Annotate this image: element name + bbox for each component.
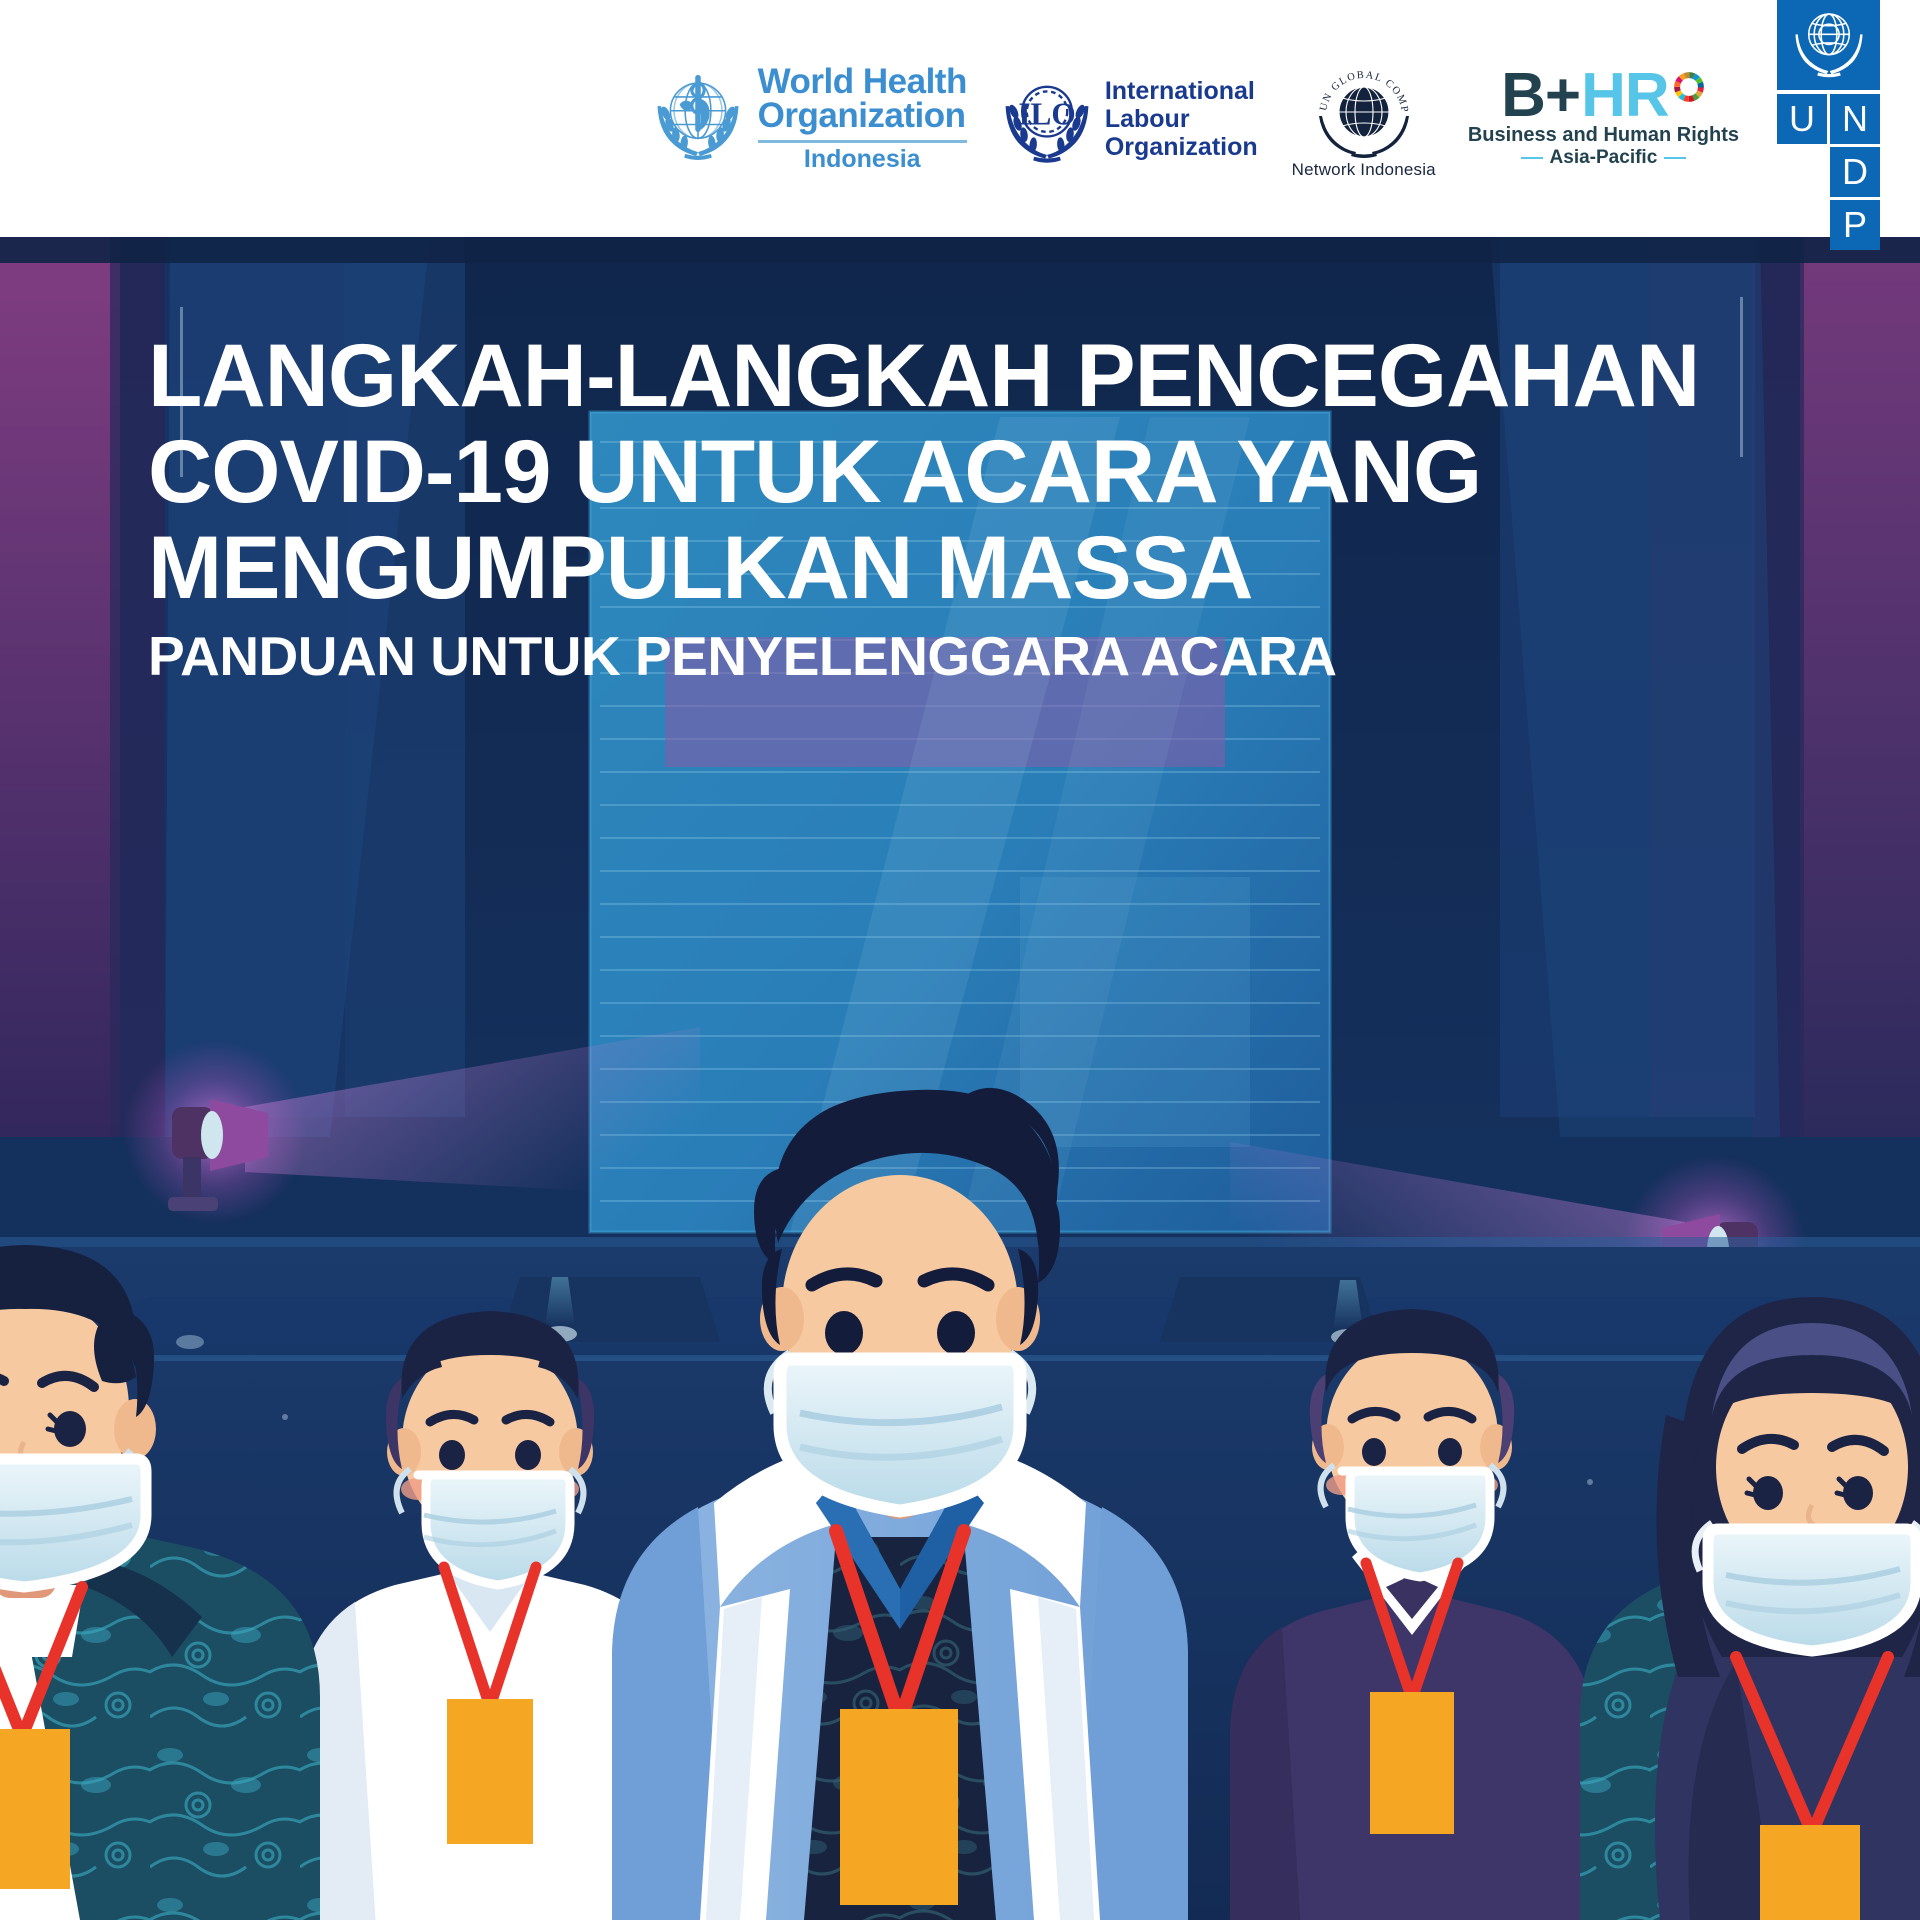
bhr-plus-sign: + [1545,68,1581,124]
undp-cell-blank-2 [1777,200,1827,250]
undp-letter-grid: U N D [1777,94,1880,197]
undp-letter-p: P [1830,200,1880,250]
poster-root: World Health Organization Indonesia ILO [0,0,1920,1920]
bhr-dash-left [1521,157,1543,159]
title-line-1: LANGKAH-LANGKAH PENCEGAHAN [148,327,1848,423]
ilo-logo: ILO International Labour [1001,69,1258,169]
svg-text:ILO: ILO [1018,96,1075,131]
person-man-blue-blazer-center [612,1088,1188,1920]
undp-cell-blank [1777,147,1827,197]
b-plus-hr-logo: B + HR [1468,68,1739,169]
poster-subtitle: PANDUAN UNTUK PENYELENGGARA ACARA [148,615,1848,698]
bhr-region: Asia-Pacific [1550,147,1658,169]
poster-title-block: LANGKAH-LANGKAH PENCEGAHAN COVID-19 UNTU… [148,327,1848,698]
person-man-purple-vest [1230,1309,1594,1920]
undp-logo: U N D P [1777,0,1880,250]
ilo-line2: Labour [1105,105,1258,133]
undp-letter-grid-bottom: P [1777,200,1880,250]
who-divider [758,140,967,143]
hero-illustration-area: LANGKAH-LANGKAH PENCEGAHAN COVID-19 UNTU… [0,237,1920,1920]
who-emblem-icon [652,67,744,171]
partner-logo-bar: World Health Organization Indonesia ILO [0,0,1920,237]
person-woman-hijab-right [1580,1297,1920,1920]
who-logo: World Health Organization Indonesia [652,65,967,173]
un-global-compact-logo: UN GLOBAL COMPACT Network Indonesi [1292,58,1436,180]
title-line-2: COVID-19 UNTUK ACARA YANG [148,423,1848,519]
who-line1: World Health [758,65,967,99]
bhr-letters-hr: HR [1581,68,1669,124]
bhr-letter-b: B [1501,68,1545,124]
sdg-wheel-icon [1672,70,1706,104]
undp-letter-d: D [1830,147,1880,197]
bhr-dash-right [1664,157,1686,159]
title-line-3: MENGUMPULKAN MASSA [148,519,1848,615]
un-emblem-icon [1790,0,1868,78]
person-woman-batik-left [0,1245,320,1920]
who-line2: Organization [758,99,967,133]
ilo-emblem-icon: ILO [1001,69,1093,169]
ilo-line3: Organization [1105,133,1258,161]
ilo-wordmark: International Labour Organization [1105,77,1258,161]
ilo-line1: International [1105,77,1258,105]
bhr-region-row: Asia-Pacific [1521,147,1687,169]
bhr-subtitle: Business and Human Rights [1468,125,1739,146]
undp-letter-n: N [1830,94,1880,144]
global-compact-subtitle: Network Indonesia [1292,160,1436,180]
who-wordmark: World Health Organization Indonesia [758,65,967,173]
undp-letter-u: U [1777,94,1827,144]
global-compact-globe-icon: UN GLOBAL COMPACT [1314,58,1414,158]
bhr-wordmark: B + HR [1501,68,1706,124]
who-country: Indonesia [758,147,967,172]
undp-emblem-panel [1777,0,1880,90]
